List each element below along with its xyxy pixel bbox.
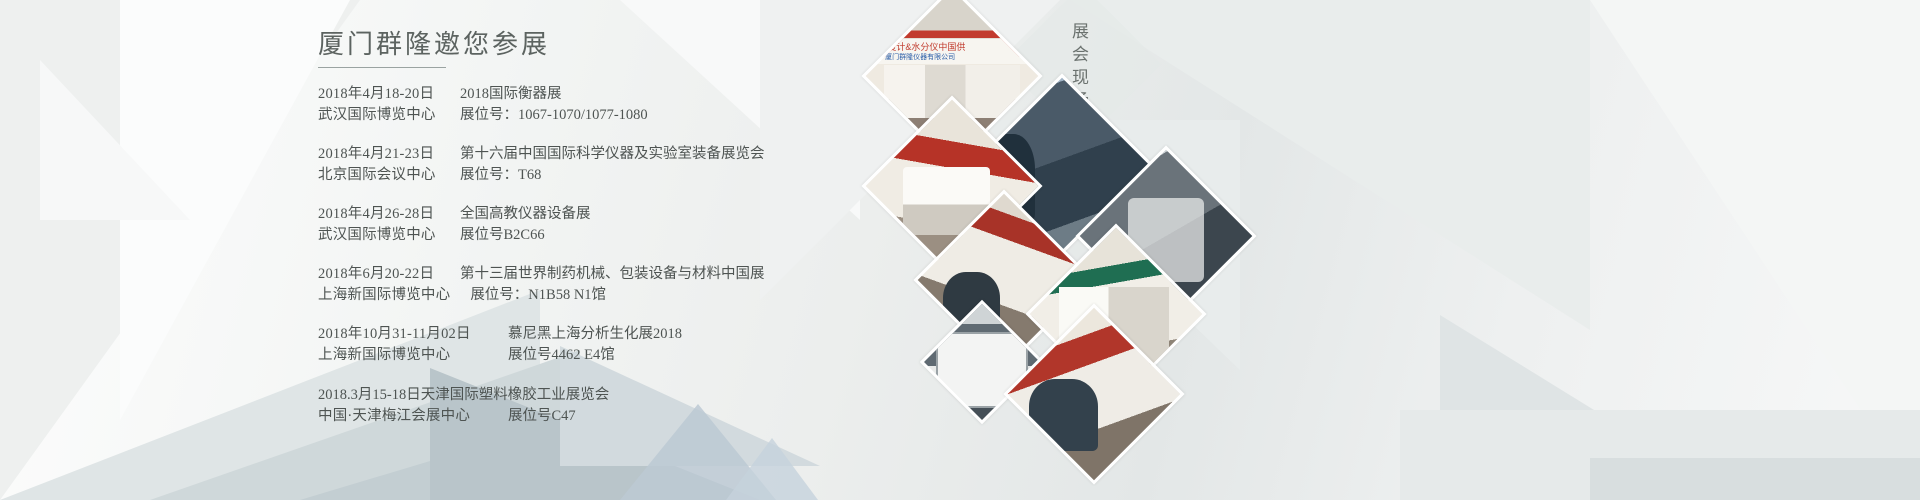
event-name: 第十三届世界制药机械、包装设备与材料中国展 [460, 264, 765, 285]
event-date: 2018年6月20-22日 [318, 264, 440, 285]
event-date: 2018年4月18-20日 [318, 84, 440, 105]
accent-triangle-small [726, 438, 818, 500]
event-booth: 展位号4462 E4馆 [508, 345, 615, 366]
event-booth: 展位号B2C66 [460, 225, 545, 246]
booth-banner: 密度计&水分仪中国供 厦门群隆仪器有限公司 [868, 38, 1035, 64]
event-name: 第十六届中国国际科学仪器及实验室装备展览会 [460, 144, 765, 165]
event-date: 2018年4月26-28日 [318, 204, 440, 225]
background-facet [40, 60, 190, 220]
photo-collage: 展会现场 密度计&水分仪中国供 厦门群隆仪器有限公司 [880, 0, 1200, 500]
event-venue: 武汉国际博览中心 [318, 105, 440, 126]
event-booth: 展位号C47 [508, 406, 576, 427]
event-venue: 中国·天津梅江会展中心 [318, 406, 488, 427]
event-booth: 展位号：N1B58 N1馆 [470, 285, 606, 306]
event-name: 全国高教仪器设备展 [460, 204, 591, 225]
banner-title: 密度计&水分仪中国供 [878, 40, 965, 53]
event-venue: 北京国际会议中心 [318, 165, 440, 186]
event-booth: 展位号：T68 [460, 165, 541, 186]
title-underline [318, 67, 446, 68]
event-name: 慕尼黑上海分析生化展2018 [508, 324, 682, 345]
event-booth: 展位号：1067-1070/1077-1080 [460, 105, 648, 126]
event-date: 2018年4月21-23日 [318, 144, 440, 165]
event-date: 2018年10月31-11月02日 [318, 324, 488, 345]
event-venue: 上海新国际博览中心 [318, 285, 450, 306]
background-facet [1590, 458, 1920, 500]
event-venue: 武汉国际博览中心 [318, 225, 440, 246]
event-venue: 上海新国际博览中心 [318, 345, 488, 366]
event-name: 2018国际衡器展 [460, 84, 562, 105]
banner-subtitle: 厦门群隆仪器有限公司 [885, 52, 955, 62]
poster-canvas: 厦门群隆邀您参展 2018年4月18-20日 2018国际衡器展 武汉国际博览中… [0, 0, 1920, 500]
